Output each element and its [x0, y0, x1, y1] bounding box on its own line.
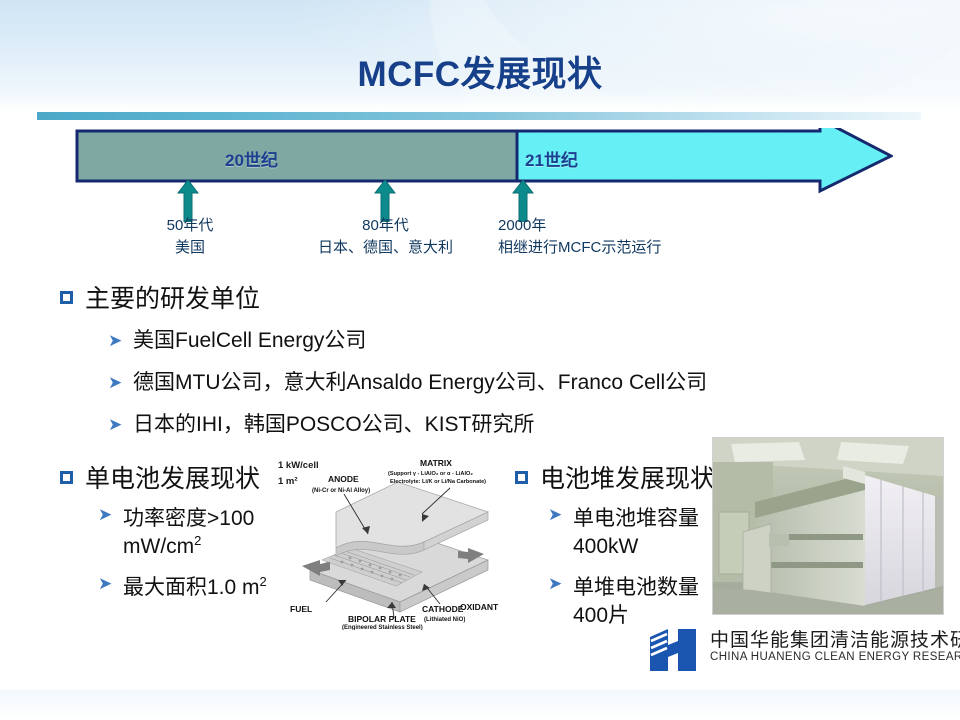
- list-item-org-3-label: 日本的IHI，韩国POSCO公司、KIST研究所: [133, 413, 534, 436]
- stack-count-line1: 单堆电池数量: [573, 576, 699, 599]
- timeline-event-3-year: 2000年: [498, 215, 661, 237]
- list-item: ➤ 单堆电池数量 400片: [548, 574, 718, 629]
- power-density-line1: 功率密度>100: [123, 507, 254, 530]
- list-single-cell: ➤ 功率密度>100 mW/cm2 ➤ 最大面积1.0 m2: [98, 505, 273, 616]
- chevron-right-icon: ➤: [108, 373, 123, 393]
- list-item-stack-1: 单电池堆容量 400kW: [573, 505, 699, 560]
- section-heading-orgs: 主要的研发单位: [60, 279, 260, 315]
- max-area-line1: 最大面积1.0 m: [123, 576, 260, 599]
- stack-capacity-line2: 400kW: [573, 535, 638, 558]
- svg-text:(Ni-Cr or Ni-Al Alloy): (Ni-Cr or Ni-Al Alloy): [312, 488, 370, 494]
- page-title: MCFC发展现状: [0, 46, 960, 97]
- timeline-event-3: 2000年 相继进行MCFC示范运行: [498, 215, 661, 259]
- timeline-event-1-year: 50年代: [160, 215, 220, 237]
- title-divider-bar: [37, 112, 921, 120]
- svg-text:OXIDANT: OXIDANT: [460, 602, 499, 612]
- timeline-event-1-detail: 美国: [160, 237, 220, 259]
- mcfc-cell-diagram: 1 kW/cell 1 m² ANODE (Ni-Cr or Ni-Al All…: [272, 452, 510, 630]
- timeline-event-2-year: 80年代: [308, 215, 463, 237]
- list-item-single-cell-1: 功率密度>100 mW/cm2: [123, 505, 254, 560]
- square-bullet-icon: [515, 471, 528, 484]
- list-item: ➤ 单电池堆容量 400kW: [548, 505, 718, 560]
- svg-text:MATRIX: MATRIX: [420, 458, 452, 468]
- timeline-event-1: 50年代 美国: [160, 215, 220, 259]
- timeline-label-20th: 20世纪: [225, 146, 278, 171]
- section-heading-single-cell-label: 单电池发展现状: [85, 465, 260, 493]
- chevron-right-icon: ➤: [108, 415, 123, 435]
- logo-name-en: CHINA HUANENG CLEAN ENERGY RESEARCH INST…: [710, 651, 960, 663]
- chevron-right-icon: ➤: [548, 505, 563, 525]
- section-heading-single-cell: 单电池发展现状: [60, 459, 260, 495]
- section-heading-stack: 电池堆发展现状: [515, 459, 715, 495]
- section-heading-orgs-label: 主要的研发单位: [85, 285, 260, 313]
- list-item: ➤ 最大面积1.0 m2: [98, 574, 273, 602]
- list-item-org-1-label: 美国FuelCell Energy公司: [133, 329, 366, 352]
- power-density-line2: mW/cm: [123, 535, 194, 558]
- stack-photo: [712, 437, 944, 615]
- list-item-org-2: ➤德国MTU公司，意大利Ansaldo Energy公司、Franco Cell…: [108, 366, 707, 396]
- list-item-org-1: ➤美国FuelCell Energy公司: [108, 324, 366, 354]
- list-item-org-3: ➤日本的IHI，韩国POSCO公司、KIST研究所: [108, 408, 534, 438]
- slide-canvas: MCFC发展现状 20世纪 21世纪 50年代 美国 80年代 日本、德国、意大…: [0, 0, 960, 720]
- huaneng-h-logo-icon: [648, 627, 700, 673]
- chevron-right-icon: ➤: [98, 505, 113, 525]
- svg-text:(Support γ - LiAlO₂ or α - LiA: (Support γ - LiAlO₂ or α - LiAlO₂: [388, 471, 473, 477]
- stack-count-line2: 400片: [573, 604, 629, 627]
- footer-tint: [0, 690, 960, 720]
- max-area-sup: 2: [260, 574, 267, 589]
- list-item: ➤ 功率密度>100 mW/cm2: [98, 505, 273, 560]
- svg-text:1 kW/cell: 1 kW/cell: [278, 460, 319, 471]
- svg-text:Electrolyte: Li/K or Li/Na Car: Electrolyte: Li/K or Li/Na Carbonate): [390, 479, 486, 485]
- logo-name-cn: 中国华能集团清洁能源技术研究院: [710, 625, 960, 652]
- timeline-event-2-detail: 日本、德国、意大利: [308, 237, 463, 259]
- mcfc-cell-diagram-graphic: 1 kW/cell 1 m² ANODE (Ni-Cr or Ni-Al All…: [272, 452, 510, 630]
- svg-text:1 m²: 1 m²: [278, 476, 298, 487]
- timeline-event-2: 80年代 日本、德国、意大利: [308, 215, 463, 259]
- list-item-single-cell-2: 最大面积1.0 m2: [123, 574, 267, 602]
- timeline-label-21st: 21世纪: [525, 146, 578, 171]
- svg-text:FUEL: FUEL: [290, 604, 312, 614]
- organization-logo: 中国华能集团清洁能源技术研究院 CHINA HUANENG CLEAN ENER…: [648, 625, 948, 677]
- list-stack: ➤ 单电池堆容量 400kW ➤ 单堆电池数量 400片: [548, 505, 718, 644]
- list-item-org-2-label: 德国MTU公司，意大利Ansaldo Energy公司、Franco Cell公…: [133, 371, 707, 394]
- power-density-sup: 2: [194, 533, 201, 548]
- stack-photo-image: [713, 438, 943, 614]
- svg-text:BIPOLAR PLATE: BIPOLAR PLATE: [348, 614, 416, 624]
- svg-text:(Engineered Stainless Steel): (Engineered Stainless Steel): [342, 625, 423, 630]
- chevron-right-icon: ➤: [98, 574, 113, 594]
- chevron-right-icon: ➤: [548, 574, 563, 594]
- svg-text:ANODE: ANODE: [328, 474, 359, 484]
- list-item-stack-2: 单堆电池数量 400片: [573, 574, 699, 629]
- section-heading-stack-label: 电池堆发展现状: [540, 465, 715, 493]
- square-bullet-icon: [60, 471, 73, 484]
- stack-capacity-line1: 单电池堆容量: [573, 507, 699, 530]
- square-bullet-icon: [60, 291, 73, 304]
- chevron-right-icon: ➤: [108, 331, 123, 351]
- timeline-event-3-detail: 相继进行MCFC示范运行: [498, 237, 661, 259]
- svg-text:CATHODE: CATHODE: [422, 604, 464, 614]
- svg-text:(Lithiated NiO): (Lithiated NiO): [424, 617, 465, 623]
